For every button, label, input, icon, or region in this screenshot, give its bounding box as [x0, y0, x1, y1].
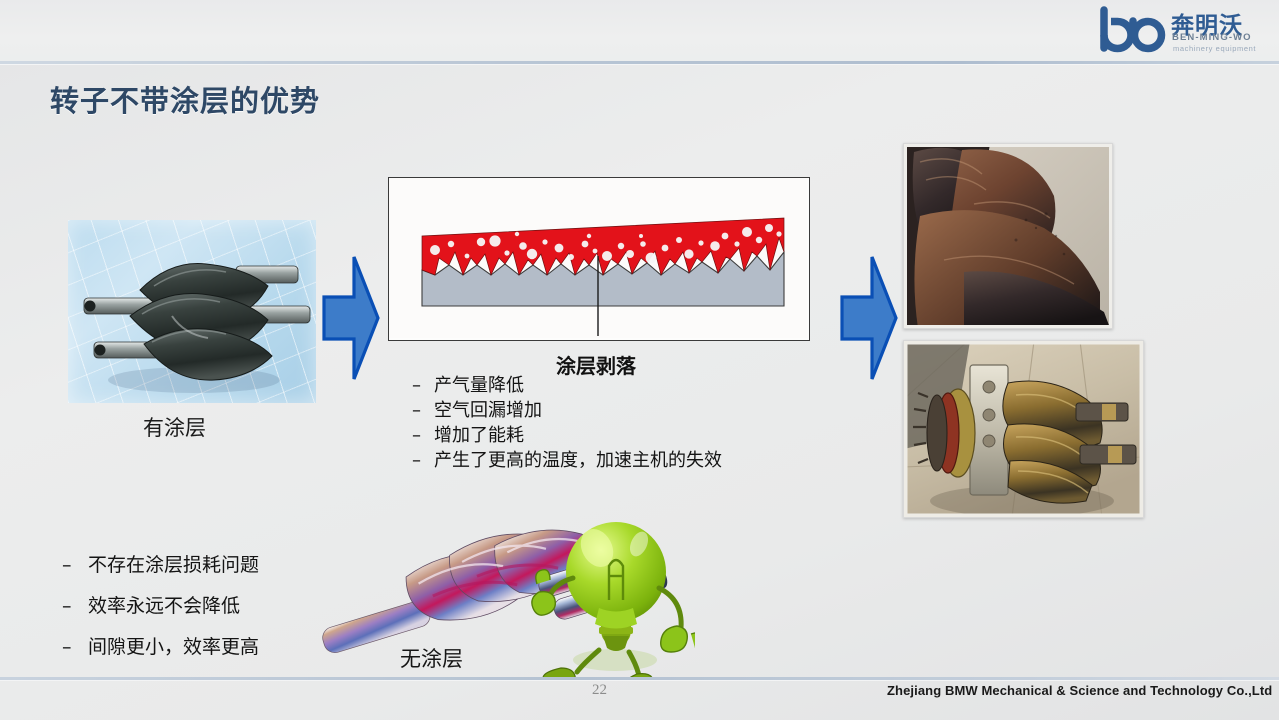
- list-item: – 空气回漏增加: [412, 398, 832, 423]
- bullet-dash: –: [412, 423, 434, 448]
- bullet-text: 产生了更高的温度，加速主机的失效: [434, 448, 722, 473]
- bullet-text: 间隙更小，效率更高: [88, 627, 259, 668]
- worn-rotor-illustration: [904, 144, 1112, 328]
- bullet-text: 效率永远不会降低: [88, 586, 240, 627]
- slide-canvas: 奔明沃 BEN-MING-WO machinery equipment 转子不带…: [0, 0, 1279, 720]
- page-title: 转子不带涂层的优势: [50, 78, 320, 120]
- footer-company-name: Zhejiang BMW Mechanical & Science and Te…: [887, 683, 1272, 698]
- coated-rotor-photo: [68, 220, 316, 403]
- bullet-dash: –: [62, 586, 88, 627]
- bullet-dash: –: [412, 448, 434, 473]
- bullet-text: 不存在涂层损耗问题: [88, 545, 259, 586]
- list-item: – 产气量降低: [412, 373, 832, 398]
- coating-delamination-diagram: [388, 177, 810, 341]
- logo-english-name: BEN-MING-WO: [1172, 32, 1252, 43]
- page-number: 22: [592, 682, 607, 699]
- coated-photo-caption: 有涂层: [143, 412, 206, 442]
- bullet-text: 增加了能耗: [434, 423, 524, 448]
- bullet-text: 产气量降低: [434, 373, 524, 398]
- company-logo: 奔明沃 BEN-MING-WO machinery equipment: [1097, 4, 1267, 60]
- list-item: – 增加了能耗: [412, 423, 832, 448]
- logo-tagline: machinery equipment: [1173, 44, 1256, 53]
- uncoated-rotor-art: [305, 512, 695, 677]
- bullet-dash: –: [412, 398, 434, 423]
- bullet-dash: –: [62, 545, 88, 586]
- list-item: – 产生了更高的温度，加速主机的失效: [412, 448, 832, 473]
- coated-rotor-illustration: [68, 220, 316, 403]
- header-band: [0, 0, 1279, 62]
- arrow-right-icon-1: [320, 253, 382, 383]
- worn-rotor-photo: [903, 143, 1113, 329]
- bullet-text: 空气回漏增加: [434, 398, 542, 423]
- arrow-right-icon-2: [838, 253, 900, 383]
- footer-divider: [0, 677, 1279, 680]
- header-divider: [0, 61, 1279, 64]
- rotor-assembly-illustration: [904, 341, 1143, 517]
- coating-issue-list: – 产气量降低 – 空气回漏增加 – 增加了能耗 – 产生了更高的温度，加速主机…: [412, 373, 832, 473]
- bullet-dash: –: [412, 373, 434, 398]
- bullet-dash: –: [62, 627, 88, 668]
- rotor-assembly-photo: [903, 340, 1144, 518]
- uncoated-art-caption: 无涂层: [400, 643, 463, 673]
